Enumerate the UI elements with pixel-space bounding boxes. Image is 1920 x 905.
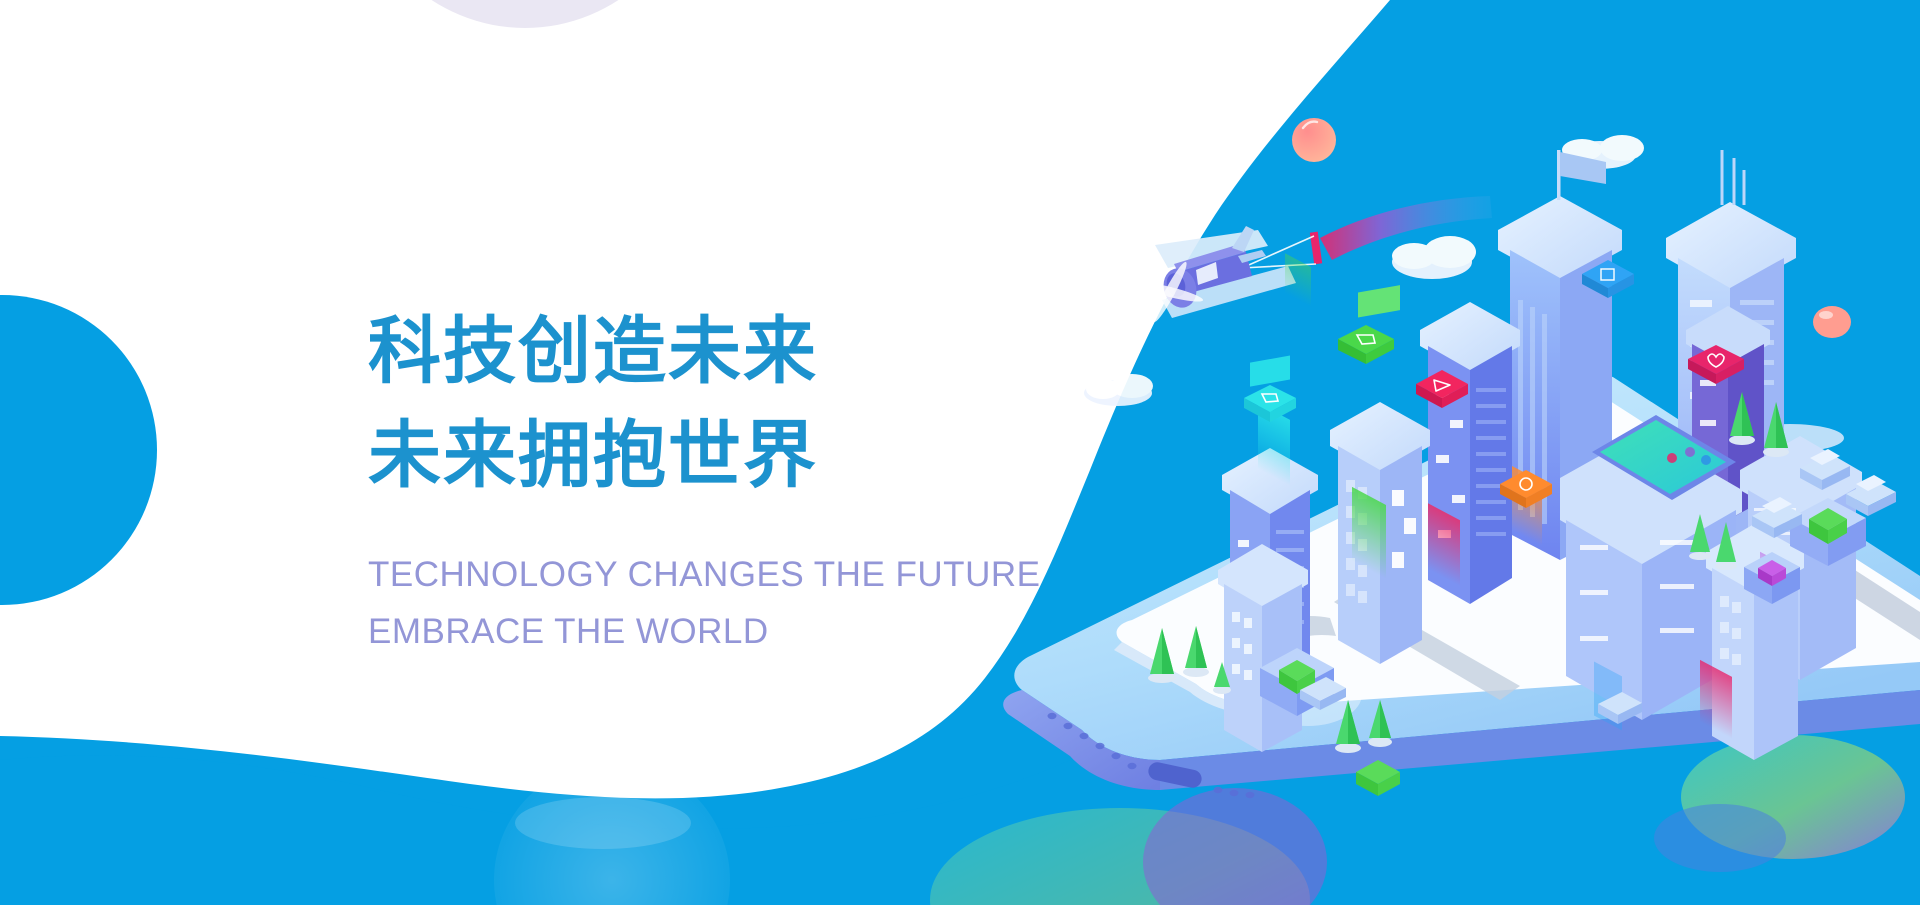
hero-banner: 科技创造未来 未来拥抱世界 TECHNOLOGY CHANGES THE FUT… [0, 0, 1920, 905]
green-rooftop-cube [1358, 285, 1400, 317]
cloud-3 [1084, 374, 1153, 406]
subtitle-line-2: EMBRACE THE WORLD [368, 604, 1068, 661]
antenna-mast [1722, 150, 1744, 205]
balloon-pink [1292, 118, 1336, 162]
subtitle-block: TECHNOLOGY CHANGES THE FUTURE EMBRACE TH… [368, 547, 1068, 660]
headline-line-2: 未来拥抱世界 [368, 404, 1068, 508]
hero-text-block: 科技创造未来 未来拥抱世界 TECHNOLOGY CHANGES THE FUT… [368, 300, 1068, 661]
balloon-small-pink [1813, 306, 1851, 338]
cyan-rooftop-cube [1250, 356, 1290, 387]
cloud-2 [1392, 236, 1476, 279]
subtitle-line-1: TECHNOLOGY CHANGES THE FUTURE [368, 547, 1068, 604]
phone-speaker-holes-right [1214, 787, 1255, 798]
headline-line-1: 科技创造未来 [368, 300, 1068, 404]
building-front-left [1218, 544, 1308, 752]
